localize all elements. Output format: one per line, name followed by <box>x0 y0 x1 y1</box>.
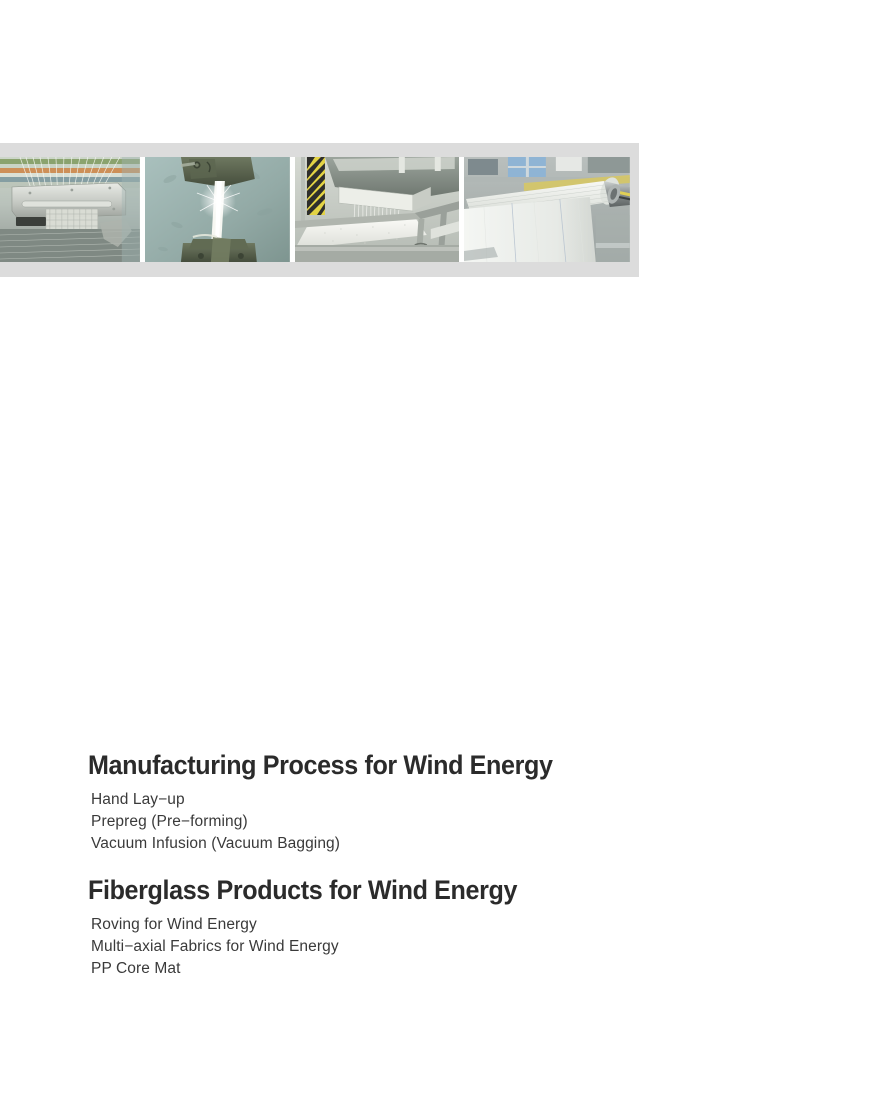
list-fiberglass-products: Roving for Wind Energy Multi−axial Fabri… <box>88 914 788 980</box>
list-item: Prepreg (Pre−forming) <box>91 811 788 833</box>
photo-fabric-roll-winder <box>464 157 630 262</box>
photo-tensile-test <box>145 157 290 262</box>
list-item: PP Core Mat <box>91 958 788 980</box>
content-text-block: Manufacturing Process for Wind Energy Ha… <box>88 750 788 980</box>
list-item: Roving for Wind Energy <box>91 914 788 936</box>
list-item: Vacuum Infusion (Vacuum Bagging) <box>91 833 788 855</box>
photo-chopped-strand-mat-line <box>295 157 460 262</box>
photo-weaving-machine <box>0 157 140 262</box>
banner-photo-strip <box>0 157 630 262</box>
list-item: Multi−axial Fabrics for Wind Energy <box>91 936 788 958</box>
section-fiberglass-products: Fiberglass Products for Wind Energy Rovi… <box>88 875 788 980</box>
heading-fiberglass-products: Fiberglass Products for Wind Energy <box>88 875 739 906</box>
list-manufacturing-process: Hand Lay−up Prepreg (Pre−forming) Vacuum… <box>88 789 788 855</box>
heading-manufacturing-process: Manufacturing Process for Wind Energy <box>88 750 739 781</box>
list-item: Hand Lay−up <box>91 789 788 811</box>
wind-energy-photo-banner <box>0 143 639 277</box>
section-manufacturing-process: Manufacturing Process for Wind Energy Ha… <box>88 750 788 855</box>
